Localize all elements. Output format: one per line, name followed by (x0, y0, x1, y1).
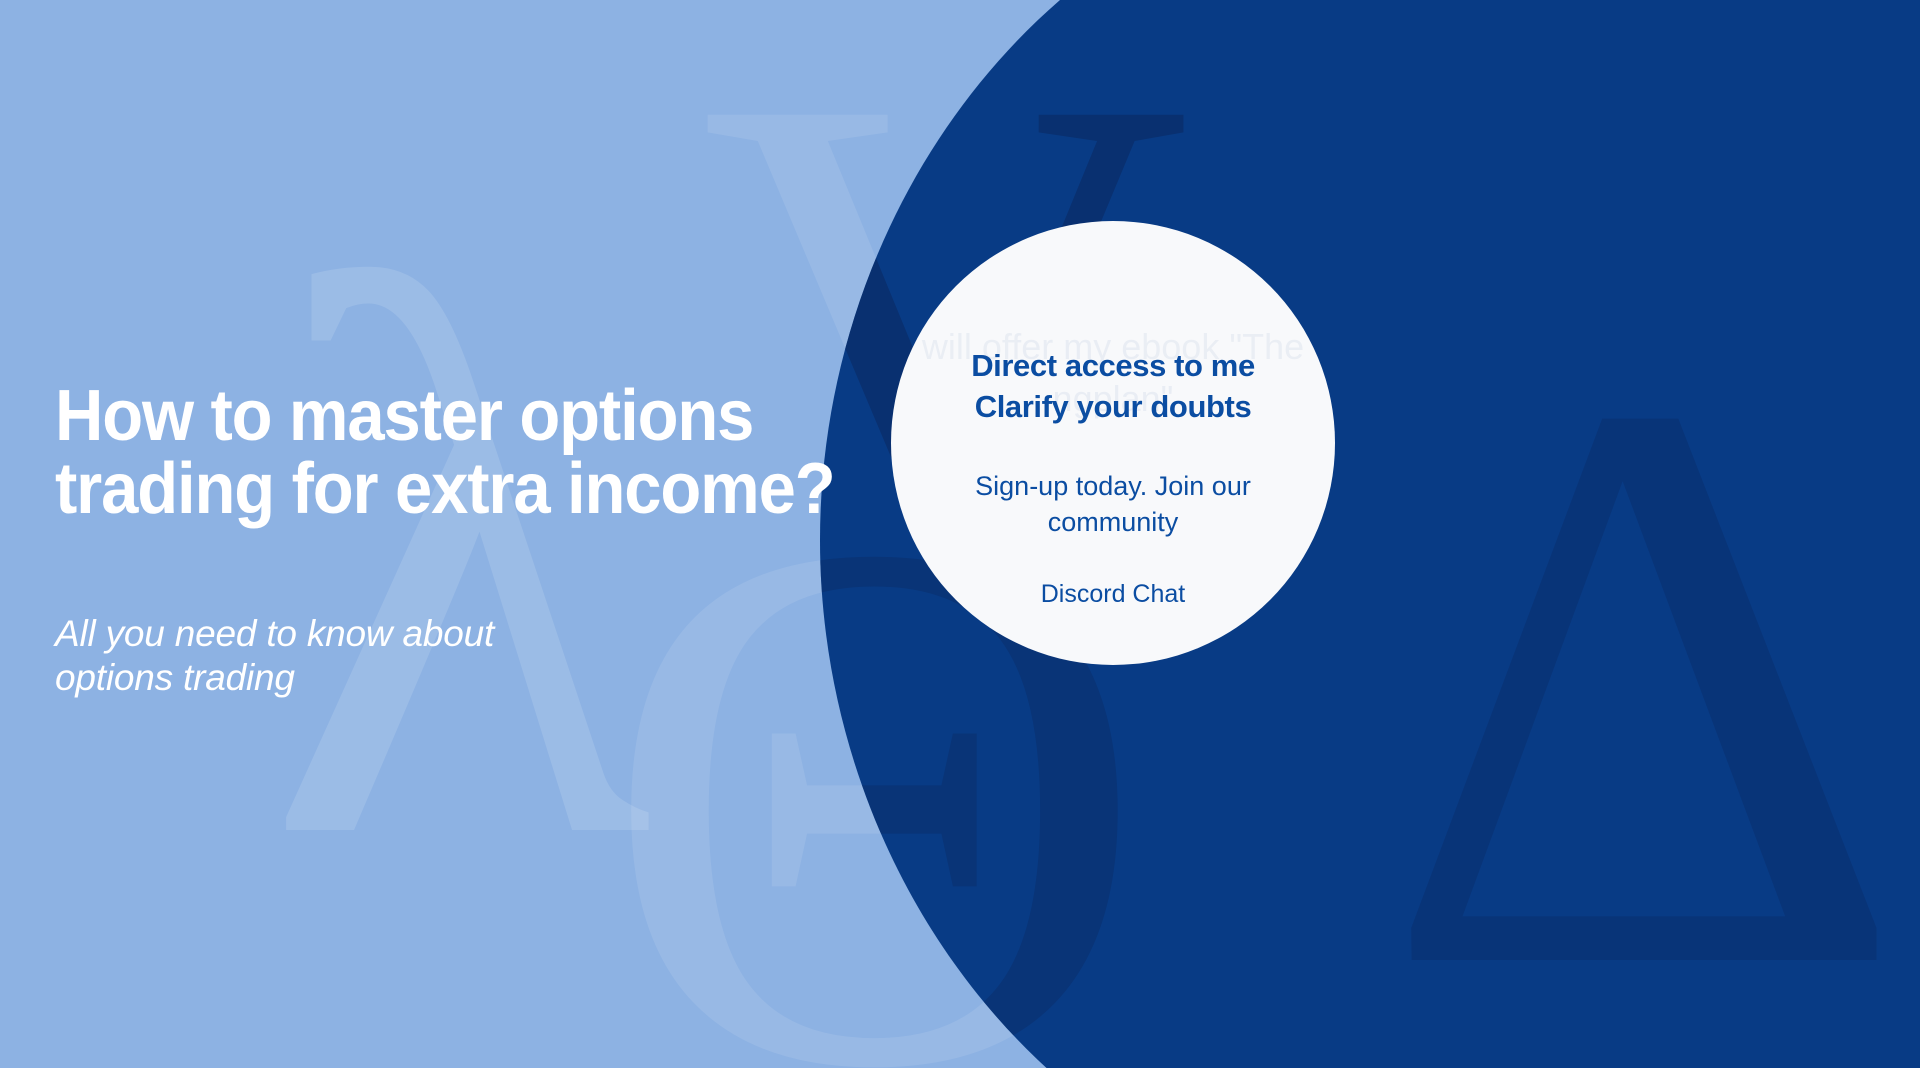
promo-slide: λ Θ V V Θ Δ How to master options tradin… (0, 0, 1920, 1080)
delta-watermark-icon: Δ (1380, 230, 1907, 1080)
cta-title: Direct access to me Clarify your doubts (903, 345, 1323, 427)
lambda-watermark-icon: λ (265, 118, 653, 1004)
cta-card-content: Direct access to me Clarify your doubts … (891, 221, 1335, 665)
page-subtitle: All you need to know about options tradi… (55, 612, 675, 699)
discord-chat-link[interactable]: Discord Chat (913, 579, 1313, 609)
bottom-white-strip (0, 1068, 1920, 1080)
cta-subtitle: Sign-up today. Join our community (943, 469, 1283, 540)
page-title: How to master options trading for extra … (55, 380, 994, 527)
cta-circle-card[interactable]: will offer my ebook "The ngplan" Direct … (891, 221, 1335, 665)
